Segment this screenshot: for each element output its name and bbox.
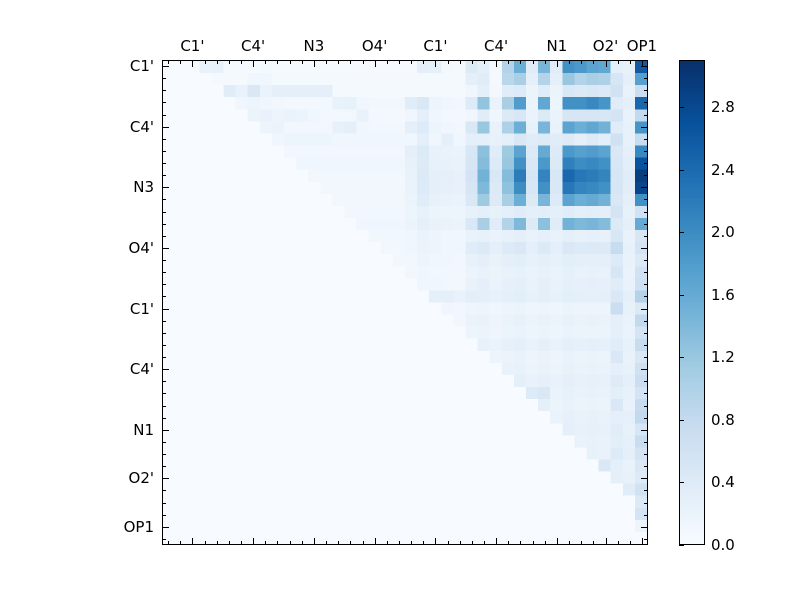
- x-tick: [290, 541, 291, 545]
- x-tick: [205, 60, 206, 64]
- y-tick: [162, 212, 166, 213]
- y-tick: [644, 224, 648, 225]
- y-tick: [644, 151, 648, 152]
- y-axis-tick-label: N3: [133, 178, 154, 196]
- x-axis-tick-label: C1': [423, 37, 447, 55]
- x-tick: [496, 538, 497, 545]
- x-tick: [387, 541, 388, 545]
- x-tick: [545, 541, 546, 545]
- x-tick: [606, 538, 607, 545]
- x-axis-tick-label: C4': [484, 37, 508, 55]
- heatmap-grid: [163, 61, 647, 544]
- y-tick: [162, 430, 169, 431]
- x-tick: [460, 541, 461, 545]
- y-tick: [644, 406, 648, 407]
- x-tick: [192, 538, 193, 545]
- y-tick: [162, 357, 166, 358]
- x-tick: [180, 541, 181, 545]
- y-tick: [162, 139, 166, 140]
- x-tick: [399, 541, 400, 545]
- y-tick: [162, 284, 166, 285]
- y-axis-tick-label: O4': [129, 239, 154, 257]
- y-tick: [644, 175, 648, 176]
- y-tick: [644, 78, 648, 79]
- y-tick: [162, 345, 166, 346]
- x-tick: [435, 538, 436, 545]
- colorbar-tick: [679, 482, 684, 483]
- y-tick: [162, 539, 166, 540]
- y-tick: [644, 333, 648, 334]
- y-tick: [644, 115, 648, 116]
- y-tick: [162, 127, 169, 128]
- x-tick: [338, 60, 339, 64]
- y-tick: [644, 357, 648, 358]
- figure-canvas: C1'C4'N3O4'C1'C4'N1O2'OP1C1'C4'N3O4'C1'C…: [0, 0, 800, 600]
- x-tick: [350, 541, 351, 545]
- x-tick: [277, 541, 278, 545]
- y-tick: [162, 236, 166, 237]
- x-tick: [581, 60, 582, 64]
- y-axis-tick-label: O2': [129, 469, 154, 487]
- y-tick: [644, 212, 648, 213]
- y-tick: [644, 345, 648, 346]
- x-tick: [618, 60, 619, 64]
- y-tick: [644, 284, 648, 285]
- x-axis-tick-label: O2': [593, 37, 618, 55]
- x-tick: [302, 541, 303, 545]
- y-tick: [162, 515, 166, 516]
- y-tick: [162, 393, 166, 394]
- y-tick: [162, 78, 166, 79]
- y-tick: [162, 248, 169, 249]
- colorbar-tick-label: 0.0: [711, 536, 735, 554]
- y-tick: [641, 430, 648, 431]
- heatmap-axes: [162, 60, 648, 545]
- x-tick: [411, 541, 412, 545]
- y-tick: [644, 199, 648, 200]
- y-tick: [162, 369, 169, 370]
- x-tick: [229, 541, 230, 545]
- colorbar-tick: [679, 170, 684, 171]
- x-tick: [253, 538, 254, 545]
- y-tick: [162, 175, 166, 176]
- y-tick: [641, 369, 648, 370]
- x-tick: [569, 60, 570, 64]
- x-tick: [606, 60, 607, 67]
- x-tick: [435, 60, 436, 67]
- y-tick: [644, 503, 648, 504]
- colorbar-tick-label: 0.8: [711, 411, 735, 429]
- y-tick: [162, 454, 166, 455]
- colorbar-tick: [679, 232, 684, 233]
- y-tick: [641, 309, 648, 310]
- x-tick: [253, 60, 254, 67]
- x-tick: [229, 60, 230, 64]
- x-tick: [338, 541, 339, 545]
- y-tick: [644, 442, 648, 443]
- y-tick: [162, 527, 169, 528]
- x-tick: [484, 541, 485, 545]
- x-tick: [314, 538, 315, 545]
- y-tick: [162, 478, 169, 479]
- x-tick: [314, 60, 315, 67]
- y-axis-tick-label: C1': [130, 57, 154, 75]
- x-tick: [520, 541, 521, 545]
- y-tick: [162, 115, 166, 116]
- x-tick: [520, 60, 521, 64]
- x-tick: [241, 541, 242, 545]
- y-axis-tick-label: N1: [133, 421, 154, 439]
- x-tick: [496, 60, 497, 67]
- y-tick: [644, 102, 648, 103]
- x-tick: [593, 541, 594, 545]
- x-axis-tick-label: C1': [180, 37, 204, 55]
- y-tick: [641, 187, 648, 188]
- y-tick: [641, 248, 648, 249]
- x-tick: [557, 60, 558, 67]
- colorbar: [679, 60, 705, 545]
- x-tick: [277, 60, 278, 64]
- colorbar-tick: [679, 545, 684, 546]
- colorbar-tick-label: 2.8: [711, 98, 735, 116]
- x-tick: [533, 541, 534, 545]
- y-tick: [644, 393, 648, 394]
- y-axis-tick-label: C4': [130, 118, 154, 136]
- colorbar-gradient: [680, 61, 704, 544]
- x-tick: [205, 541, 206, 545]
- x-tick: [180, 60, 181, 64]
- x-tick: [472, 541, 473, 545]
- y-tick: [644, 539, 648, 540]
- colorbar-tick: [679, 107, 684, 108]
- y-tick: [162, 381, 166, 382]
- x-tick: [399, 60, 400, 64]
- x-tick: [168, 541, 169, 545]
- x-tick: [508, 60, 509, 64]
- y-tick: [162, 102, 166, 103]
- colorbar-tick-label: 2.0: [711, 223, 735, 241]
- x-tick: [363, 60, 364, 64]
- x-tick: [290, 60, 291, 64]
- x-tick: [363, 541, 364, 545]
- colorbar-tick-label: 0.4: [711, 473, 735, 491]
- y-axis-tick-label: C1': [130, 300, 154, 318]
- x-tick: [618, 541, 619, 545]
- y-tick: [641, 127, 648, 128]
- x-axis-tick-label: N1: [547, 37, 568, 55]
- x-tick: [375, 538, 376, 545]
- y-tick: [162, 309, 169, 310]
- x-axis-tick-label: OP1: [627, 37, 657, 55]
- colorbar-tick: [679, 357, 684, 358]
- x-axis-tick-label: O4': [362, 37, 387, 55]
- y-tick: [162, 321, 166, 322]
- y-tick: [644, 163, 648, 164]
- x-tick: [241, 60, 242, 64]
- x-tick: [387, 60, 388, 64]
- x-tick: [484, 60, 485, 64]
- x-tick: [630, 541, 631, 545]
- x-tick: [460, 60, 461, 64]
- y-tick: [644, 466, 648, 467]
- y-tick: [644, 490, 648, 491]
- y-tick: [162, 163, 166, 164]
- y-tick: [162, 442, 166, 443]
- colorbar-tick-label: 1.2: [711, 348, 735, 366]
- colorbar-tick-label: 2.4: [711, 161, 735, 179]
- x-tick: [448, 541, 449, 545]
- y-tick: [162, 260, 166, 261]
- x-tick: [423, 60, 424, 64]
- x-tick: [593, 60, 594, 64]
- y-tick: [644, 296, 648, 297]
- x-tick: [642, 538, 643, 545]
- x-tick: [545, 60, 546, 64]
- y-tick: [162, 90, 166, 91]
- x-tick: [168, 60, 169, 64]
- x-tick: [411, 60, 412, 64]
- colorbar-tick: [679, 295, 684, 296]
- x-tick: [557, 538, 558, 545]
- y-tick: [162, 224, 166, 225]
- y-axis-tick-label: OP1: [124, 518, 154, 536]
- x-tick: [265, 60, 266, 64]
- y-tick: [641, 527, 648, 528]
- y-tick: [162, 333, 166, 334]
- y-tick: [644, 260, 648, 261]
- y-tick: [644, 321, 648, 322]
- x-tick: [350, 60, 351, 64]
- colorbar-tick-label: 1.6: [711, 286, 735, 304]
- x-tick: [508, 541, 509, 545]
- y-tick: [162, 199, 166, 200]
- y-tick: [641, 478, 648, 479]
- y-tick: [641, 66, 648, 67]
- y-tick: [162, 466, 166, 467]
- x-tick: [302, 60, 303, 64]
- x-tick: [192, 60, 193, 67]
- y-tick: [644, 418, 648, 419]
- x-tick: [265, 541, 266, 545]
- x-axis-tick-label: N3: [304, 37, 325, 55]
- y-tick: [162, 503, 166, 504]
- x-tick: [326, 541, 327, 545]
- x-tick: [533, 60, 534, 64]
- x-tick: [581, 541, 582, 545]
- y-tick: [162, 151, 166, 152]
- x-tick: [630, 60, 631, 64]
- x-tick: [326, 60, 327, 64]
- y-tick: [162, 296, 166, 297]
- x-axis-tick-label: C4': [241, 37, 265, 55]
- y-tick: [162, 272, 166, 273]
- x-tick: [472, 60, 473, 64]
- x-tick: [423, 541, 424, 545]
- x-tick: [569, 541, 570, 545]
- y-tick: [162, 66, 169, 67]
- y-tick: [644, 272, 648, 273]
- y-tick: [162, 187, 169, 188]
- y-tick: [644, 515, 648, 516]
- y-tick: [644, 139, 648, 140]
- x-tick: [217, 541, 218, 545]
- y-tick: [644, 381, 648, 382]
- y-tick: [162, 418, 166, 419]
- y-axis-tick-label: C4': [130, 360, 154, 378]
- colorbar-tick: [679, 420, 684, 421]
- y-tick: [162, 490, 166, 491]
- x-tick: [375, 60, 376, 67]
- y-tick: [644, 236, 648, 237]
- y-tick: [644, 454, 648, 455]
- x-tick: [217, 60, 218, 64]
- y-tick: [644, 90, 648, 91]
- x-tick: [448, 60, 449, 64]
- y-tick: [162, 406, 166, 407]
